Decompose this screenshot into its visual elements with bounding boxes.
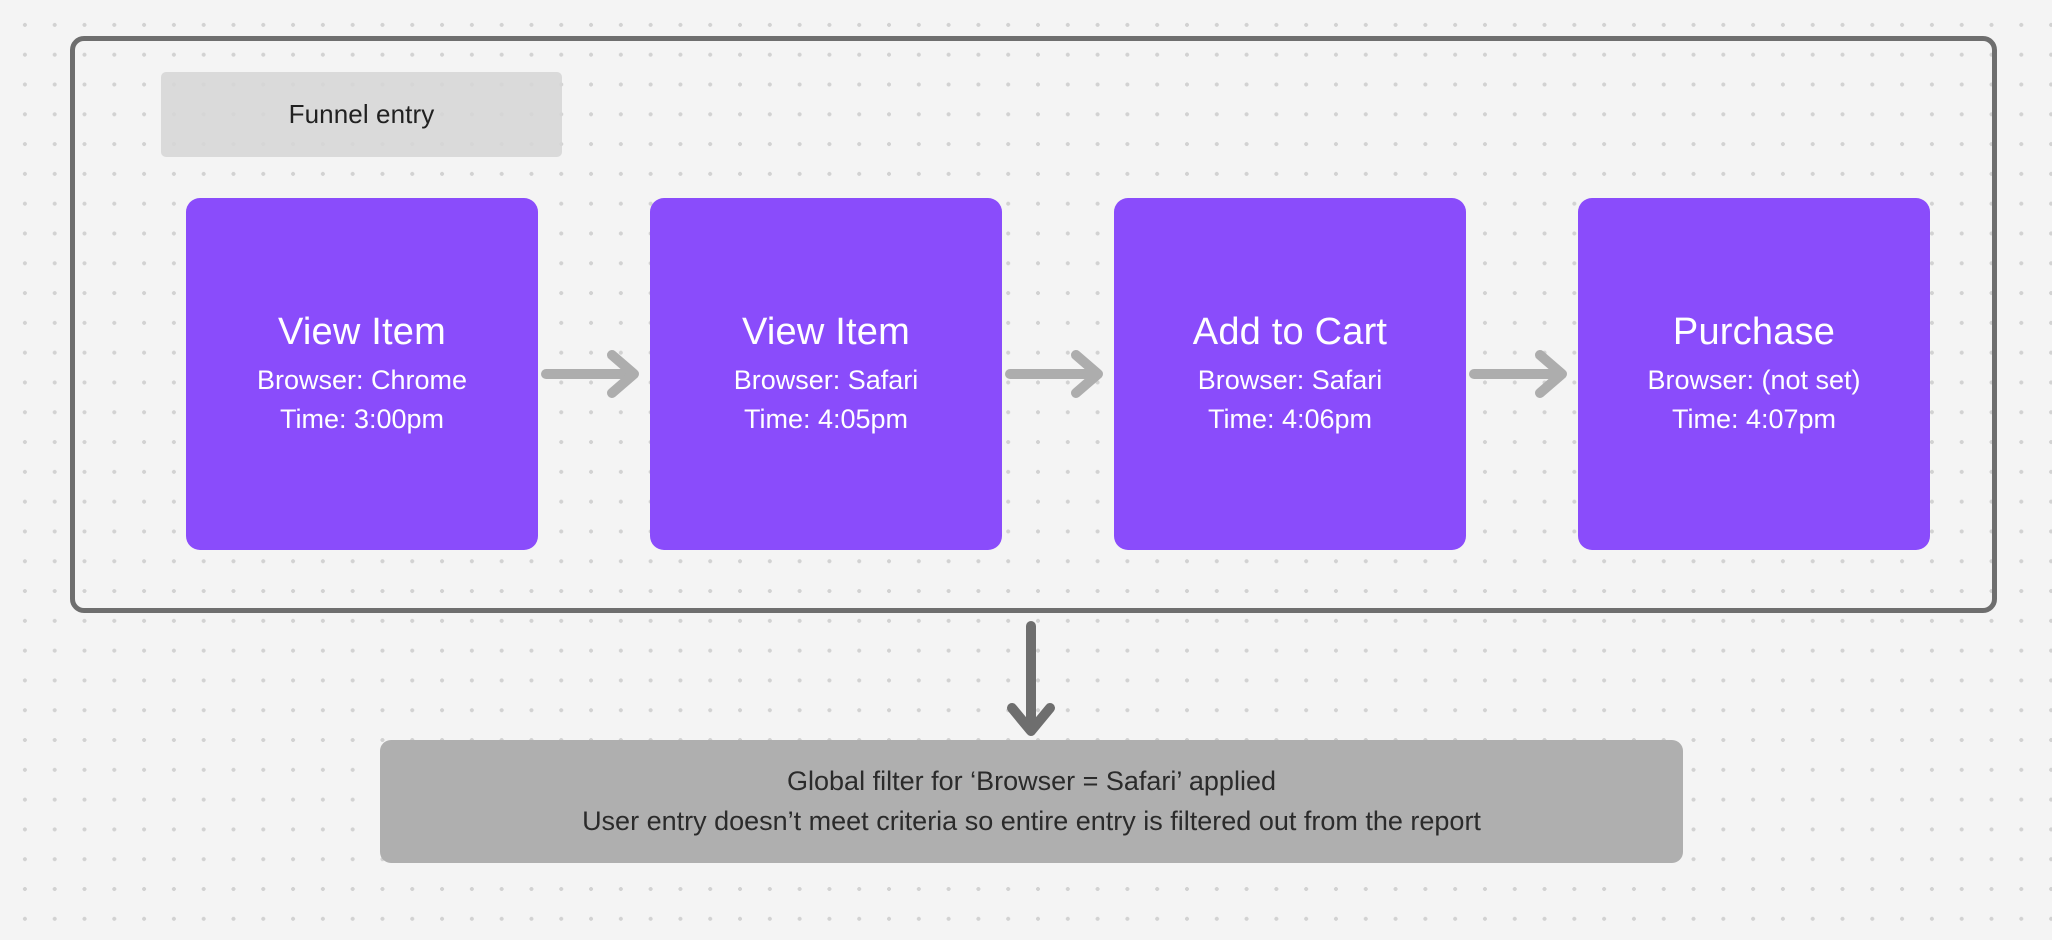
callout-line-1: Global filter for ‘Browser = Safari’ app… xyxy=(787,762,1276,801)
step-card-browser: Browser: Safari xyxy=(1198,361,1383,399)
arrow-right-icon xyxy=(1468,348,1572,400)
arrow-right-icon xyxy=(540,348,644,400)
step-card-time: Time: 3:00pm xyxy=(280,400,444,438)
step-card-time: Time: 4:07pm xyxy=(1672,400,1836,438)
step-card-title: View Item xyxy=(742,310,910,354)
step-card-view-item-safari[interactable]: View Item Browser: Safari Time: 4:05pm xyxy=(650,198,1002,550)
step-card-purchase[interactable]: Purchase Browser: (not set) Time: 4:07pm xyxy=(1578,198,1930,550)
step-card-title: Add to Cart xyxy=(1193,310,1387,354)
step-card-time: Time: 4:06pm xyxy=(1208,400,1372,438)
global-filter-callout: Global filter for ‘Browser = Safari’ app… xyxy=(380,740,1683,863)
callout-line-2: User entry doesn’t meet criteria so enti… xyxy=(582,802,1481,841)
funnel-entry-label: Funnel entry xyxy=(161,72,562,157)
funnel-entry-label-text: Funnel entry xyxy=(289,99,435,130)
step-card-time: Time: 4:05pm xyxy=(744,400,908,438)
arrow-right-icon xyxy=(1004,348,1108,400)
step-card-title: Purchase xyxy=(1673,310,1835,354)
step-card-browser: Browser: Chrome xyxy=(257,361,467,399)
arrow-down-icon xyxy=(1005,620,1057,740)
diagram-canvas: Funnel entry View Item Browser: Chrome T… xyxy=(0,0,2052,940)
step-card-view-item-chrome[interactable]: View Item Browser: Chrome Time: 3:00pm xyxy=(186,198,538,550)
step-card-title: View Item xyxy=(278,310,446,354)
step-card-add-to-cart[interactable]: Add to Cart Browser: Safari Time: 4:06pm xyxy=(1114,198,1466,550)
step-card-browser: Browser: (not set) xyxy=(1647,361,1860,399)
step-card-browser: Browser: Safari xyxy=(734,361,919,399)
